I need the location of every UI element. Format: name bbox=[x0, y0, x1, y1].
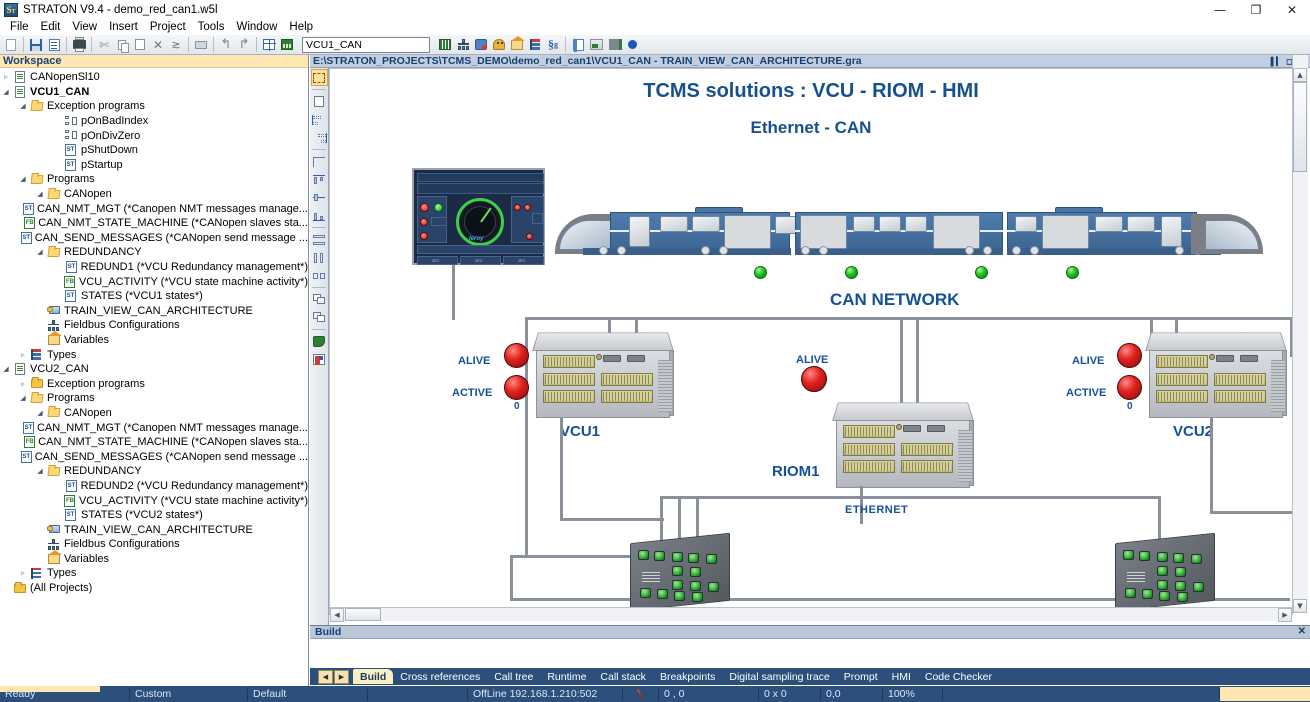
hmi-led-panto bbox=[420, 218, 428, 226]
folder-open-icon bbox=[46, 248, 61, 257]
tab-runtime[interactable]: Runtime bbox=[540, 669, 593, 684]
eth1-port-9 bbox=[690, 581, 701, 591]
tree-item-pshutdown[interactable]: STpShutDown bbox=[0, 143, 308, 158]
vcu2-serial-port-2 bbox=[1240, 355, 1258, 362]
eth1-port-6 bbox=[672, 566, 683, 576]
tree-item-label: CANopenSl10 bbox=[30, 71, 100, 83]
paste-icon[interactable] bbox=[131, 36, 149, 54]
eth-left-riser bbox=[510, 555, 513, 600]
train-graphic bbox=[555, 188, 1285, 268]
train-window-2c bbox=[905, 216, 927, 232]
train-wheel-2b bbox=[819, 246, 828, 255]
fieldbus-icon[interactable] bbox=[454, 36, 472, 54]
tree-item-all[interactable]: (All Projects) bbox=[0, 581, 308, 596]
eth2-port-11 bbox=[1125, 588, 1136, 598]
vcu2-alive-label: ALIVE bbox=[1072, 355, 1104, 367]
hmi-led-lights bbox=[420, 232, 428, 240]
variables-icon bbox=[46, 554, 61, 564]
eth2-port-2 bbox=[1139, 551, 1150, 561]
tree-item-can_nmt_mgt[interactable]: STCAN_NMT_MGT (*Canopen NMT messages man… bbox=[0, 201, 308, 216]
tree-item-label: CANopen bbox=[64, 188, 112, 200]
vcu2-front-panel bbox=[1149, 350, 1282, 418]
toolbar-separator bbox=[312, 329, 326, 330]
workspace-panel: Workspace ▹CANopenSl10◢VCU1_CAN◢Exceptio… bbox=[0, 55, 309, 688]
riom1-top-face bbox=[832, 402, 974, 421]
align-middle-icon[interactable] bbox=[311, 189, 328, 206]
tree-item-label: pStartup bbox=[81, 159, 123, 171]
diagram-canvas[interactable]: TCMS solutions : VCU - RIOM - HMI Ethern… bbox=[330, 68, 1292, 613]
vcu1-alive-led[interactable] bbox=[504, 343, 529, 368]
tree-item-redundancy[interactable]: ◢REDUNDANCY bbox=[0, 245, 308, 260]
workspace-tree[interactable]: ▹CANopenSl10◢VCU1_CAN◢Exception programs… bbox=[0, 68, 308, 595]
home-glyph bbox=[511, 40, 523, 50]
same-size-icon[interactable] bbox=[311, 267, 328, 284]
tree-item-vcu_activity[interactable]: FBVCU_ACTIVITY (*VCU state machine activ… bbox=[0, 274, 308, 289]
tree-twisty-collapsed-icon[interactable]: ▹ bbox=[17, 351, 29, 359]
tree-item-label: TRAIN_VIEW_CAN_ARCHITECTURE bbox=[64, 524, 253, 536]
dictionary-icon[interactable] bbox=[569, 36, 587, 54]
vcu1-alive-label: ALIVE bbox=[458, 355, 490, 367]
tree-item-redund2[interactable]: STREDUND2 (*VCU Redundancy management*) bbox=[0, 479, 308, 494]
close-button[interactable]: ✕ bbox=[1274, 0, 1310, 19]
train-window-3a bbox=[1015, 216, 1037, 232]
tree-item-redundancy[interactable]: ◢REDUNDANCY bbox=[0, 464, 308, 479]
tree-item-types[interactable]: ▹Types bbox=[0, 347, 308, 362]
menu-window[interactable]: Window bbox=[231, 20, 284, 34]
tab-call-tree[interactable]: Call tree bbox=[487, 669, 540, 684]
tree-item-label: CAN_SEND_MESSAGES (*CANopen send message… bbox=[35, 232, 308, 244]
tree-twisty-expanded-icon[interactable]: ◢ bbox=[17, 394, 29, 402]
hmi-brand-label: leroy bbox=[469, 236, 483, 242]
eth2-port-5 bbox=[1191, 554, 1202, 564]
status-progress bbox=[1220, 687, 1310, 701]
tree-item-label: CAN_NMT_MGT (*Canopen NMT messages manag… bbox=[37, 203, 308, 215]
tree-item-can_nmt_state_machine[interactable]: FBCAN_NMT_STATE_MACHINE (*CANopen slaves… bbox=[0, 435, 308, 450]
tree-item-label: Fieldbus Configurations bbox=[64, 538, 180, 550]
tree-item-programs[interactable]: ◢Programs bbox=[0, 391, 308, 406]
ethernet-switch-1[interactable] bbox=[630, 538, 730, 606]
status-connection: OffLine 192.168.1.210:502 bbox=[468, 687, 623, 701]
tree-item-canopen[interactable]: ◢CANopen bbox=[0, 187, 308, 202]
straton-app-icon: ST bbox=[4, 3, 18, 17]
new-document-icon[interactable] bbox=[2, 36, 20, 54]
tree-item-train_view_can_architecture[interactable]: TRAIN_VIEW_CAN_ARCHITECTURE bbox=[0, 304, 308, 319]
fb-program-icon: FB bbox=[64, 495, 76, 507]
fb-program-icon: FB bbox=[64, 276, 76, 288]
tree-item-label: VCU_ACTIVITY (*VCU state machine activit… bbox=[79, 495, 308, 507]
tree-item-redund1[interactable]: STREDUND1 (*VCU Redundancy management*) bbox=[0, 260, 308, 275]
scroll-down-arrow[interactable]: ▼ bbox=[1293, 599, 1307, 613]
tree-twisty-collapsed-icon[interactable]: ▹ bbox=[17, 569, 29, 577]
fieldbus-glyph bbox=[457, 39, 470, 50]
scroll-left-arrow[interactable]: ◀ bbox=[330, 608, 344, 622]
toolbar-separator bbox=[66, 37, 67, 52]
save-icon[interactable] bbox=[27, 36, 45, 54]
distribute-top-icon[interactable] bbox=[311, 153, 328, 170]
tree-item-vcu1_can[interactable]: ◢VCU1_CAN bbox=[0, 85, 308, 100]
hmi-led-economy bbox=[514, 204, 521, 211]
align-bottom-icon[interactable] bbox=[311, 207, 328, 224]
same-height-icon[interactable] bbox=[311, 249, 328, 266]
tree-item-label: REDUND2 (*VCU Redundancy management*) bbox=[81, 480, 308, 492]
vcu2-active-label: ACTIVE bbox=[1066, 387, 1106, 399]
align-right-icon[interactable] bbox=[311, 129, 328, 146]
st-program-icon: ST bbox=[21, 232, 32, 244]
eth1-port-10 bbox=[708, 582, 719, 592]
vcu1-active-led[interactable] bbox=[504, 375, 529, 400]
eth1-port-7 bbox=[690, 567, 701, 577]
tab-hmi[interactable]: HMI bbox=[885, 669, 918, 684]
maximize-button[interactable]: ❐ bbox=[1238, 0, 1274, 19]
align-left-icon[interactable] bbox=[311, 111, 328, 128]
pen-icon bbox=[623, 687, 659, 701]
scroll-up-arrow[interactable]: ▲ bbox=[1293, 68, 1307, 82]
delete-all-icon[interactable]: ≳ bbox=[167, 36, 185, 54]
toolbar-separator bbox=[91, 37, 92, 52]
types-glyph bbox=[530, 39, 541, 50]
save-all-icon[interactable] bbox=[45, 36, 63, 54]
train-wheel-3c bbox=[1175, 246, 1184, 255]
project-name-input[interactable] bbox=[302, 37, 430, 53]
fieldbus-config-icon bbox=[46, 320, 61, 331]
tree-twisty-expanded-icon[interactable]: ◢ bbox=[17, 175, 29, 183]
delete-icon[interactable]: ✕ bbox=[149, 36, 167, 54]
eth1-port-4 bbox=[688, 553, 699, 563]
status-spacer bbox=[368, 687, 468, 701]
tree-twisty-expanded-icon[interactable]: ◢ bbox=[34, 467, 46, 475]
status-zoom: 100% bbox=[883, 687, 943, 701]
vcu2-slot-5 bbox=[1214, 390, 1266, 403]
train-wheel-3b bbox=[1030, 246, 1039, 255]
eth-vcu2-elbow bbox=[1210, 511, 1292, 514]
bring-front-icon[interactable] bbox=[311, 93, 328, 110]
download-icon[interactable] bbox=[605, 36, 623, 54]
build-panel: Build ✕ bbox=[310, 625, 1310, 668]
st-program-icon: ST bbox=[65, 480, 77, 492]
train-roofbox-1 bbox=[695, 207, 743, 213]
tab-breakpoints[interactable]: Breakpoints bbox=[653, 669, 722, 684]
tree-item-label: pShutDown bbox=[81, 144, 138, 156]
hmi-led-defrost bbox=[524, 204, 531, 211]
tree-item-vcu_activity[interactable]: FBVCU_ACTIVITY (*VCU state machine activ… bbox=[0, 493, 308, 508]
riom1-device[interactable] bbox=[832, 398, 974, 488]
home-icon[interactable] bbox=[508, 36, 526, 54]
status-bar: Ready Custom Default OffLine 192.168.1.2… bbox=[0, 686, 1310, 702]
tree-twisty-collapsed-icon[interactable]: ▹ bbox=[17, 380, 29, 388]
scroll-h-thumb[interactable] bbox=[345, 608, 381, 621]
can-node-led-3[interactable] bbox=[975, 266, 988, 279]
hmi-led-sanding bbox=[526, 233, 533, 240]
document-restore-button[interactable]: ▌▎ bbox=[1271, 56, 1282, 66]
train-door-1 bbox=[629, 216, 650, 247]
tree-item-fieldbus[interactable]: Fieldbus Configurations bbox=[0, 318, 308, 333]
status-tail bbox=[943, 687, 1220, 701]
vcu2-active-value: 0 bbox=[1127, 401, 1133, 412]
rename-icon[interactable] bbox=[192, 36, 210, 54]
status-offset: 0,0 bbox=[821, 687, 883, 701]
copy-icon[interactable] bbox=[113, 36, 131, 54]
eth-switch2-drop bbox=[1158, 496, 1161, 544]
eth-trunk-main bbox=[660, 496, 1160, 499]
riom1-power-connector bbox=[896, 424, 902, 430]
eth1-port-8 bbox=[672, 580, 683, 590]
train-skirt-1 bbox=[583, 248, 791, 255]
vcu2-active-led[interactable] bbox=[1117, 375, 1142, 400]
vcu1-vent-grille bbox=[658, 360, 672, 412]
undo-icon[interactable]: ↰ bbox=[217, 36, 235, 54]
tree-item-canopensl10[interactable]: ▹CANopenSl10 bbox=[0, 70, 308, 85]
vcu2-serial-port-1 bbox=[1216, 355, 1234, 362]
train-window-3b bbox=[1095, 216, 1123, 232]
tree-item-exception[interactable]: ▹Exception programs bbox=[0, 376, 308, 391]
tab-code-checker[interactable]: Code Checker bbox=[918, 669, 999, 684]
tree-item-can_send_messages[interactable]: STCAN_SEND_MESSAGES (*CANopen send messa… bbox=[0, 449, 308, 464]
tree-item-variables[interactable]: Variables bbox=[0, 333, 308, 348]
riom1-front-panel bbox=[836, 420, 969, 488]
document-titlebar: E:\STRATON_PROJECTS\TCMS_DEMO\demo_red_c… bbox=[310, 55, 1310, 68]
folder-open-icon bbox=[46, 408, 61, 417]
vcu1-power-connector bbox=[596, 354, 602, 360]
eth1-port-11 bbox=[640, 588, 651, 598]
folder-open-icon bbox=[29, 175, 44, 184]
vcu2-vent-grille bbox=[1271, 360, 1285, 412]
types-icon[interactable] bbox=[526, 36, 544, 54]
tree-item-label: STATES (*VCU1 states*) bbox=[81, 290, 203, 302]
spreadsheet-icon[interactable] bbox=[278, 36, 296, 54]
print-icon[interactable] bbox=[70, 36, 88, 54]
tree-item-label: pOnDivZero bbox=[81, 130, 140, 142]
sg-function-icon[interactable]: §g bbox=[544, 36, 562, 54]
folder-closed-icon bbox=[29, 379, 44, 388]
redo-icon[interactable]: ↱ bbox=[235, 36, 253, 54]
st-program-icon: ST bbox=[63, 509, 78, 521]
eth2-port-13 bbox=[1159, 591, 1170, 601]
riom1-slot-1 bbox=[843, 425, 895, 438]
tree-item-pondivzero[interactable]: pOnDivZero bbox=[0, 128, 308, 143]
train-wheel-2d bbox=[983, 246, 992, 255]
status-size: 0 x 0 bbox=[759, 687, 821, 701]
eth1-port-14 bbox=[692, 592, 703, 602]
menu-edit[interactable]: Edit bbox=[35, 20, 67, 34]
train-window-1a bbox=[660, 216, 688, 232]
toolbar-separator bbox=[188, 37, 189, 52]
tree-item-label: Exception programs bbox=[47, 100, 145, 112]
vcu2-device[interactable] bbox=[1145, 328, 1287, 418]
group-icon[interactable] bbox=[311, 291, 328, 308]
vcu1-label: VCU1 bbox=[560, 423, 600, 440]
tree-twisty-expanded-icon[interactable]: ◢ bbox=[0, 365, 12, 373]
st-program-icon: ST bbox=[63, 290, 78, 302]
diagram-title-line1: TCMS solutions : VCU - RIOM - HMI bbox=[330, 80, 1292, 103]
tree-twisty-expanded-icon[interactable]: ◢ bbox=[34, 409, 46, 417]
can-node-led-4[interactable] bbox=[1066, 266, 1079, 279]
train-wheel-3a bbox=[1012, 246, 1021, 255]
can-node-led-1[interactable] bbox=[754, 266, 767, 279]
folder-open-icon bbox=[46, 467, 61, 476]
tree-item-vcu2_can[interactable]: ◢VCU2_CAN bbox=[0, 362, 308, 377]
grid-icon[interactable] bbox=[260, 36, 278, 54]
riom1-slot-5 bbox=[901, 460, 953, 473]
binding-icon[interactable] bbox=[472, 36, 490, 54]
tree-item-can_nmt_mgt[interactable]: STCAN_NMT_MGT (*Canopen NMT messages man… bbox=[0, 420, 308, 435]
hmi-footer-value-1: 25°C bbox=[432, 259, 439, 263]
eth1-status-leds bbox=[642, 572, 660, 582]
can-drop-hmi bbox=[452, 265, 455, 320]
vcu1-active-label: ACTIVE bbox=[452, 387, 492, 399]
diagram-title-line2: Ethernet - CAN bbox=[330, 118, 1292, 138]
menu-insert[interactable]: Insert bbox=[103, 20, 144, 34]
cut-icon[interactable]: ✄ bbox=[95, 36, 113, 54]
vcu2-alive-led[interactable] bbox=[1117, 343, 1142, 368]
select-tool-icon[interactable] bbox=[311, 69, 328, 86]
eth2-port-14 bbox=[1177, 592, 1188, 602]
properties-icon[interactable] bbox=[311, 351, 328, 368]
tab-build[interactable]: Build bbox=[353, 669, 393, 684]
tree-item-pstartup[interactable]: STpStartup bbox=[0, 158, 308, 173]
tree-item-label: VCU2_CAN bbox=[30, 363, 89, 375]
scroll-v-thumb[interactable] bbox=[1293, 82, 1307, 172]
eth1-port-13 bbox=[674, 591, 685, 601]
vcu1-top-face bbox=[532, 332, 674, 351]
st-program-icon: ST bbox=[21, 451, 32, 463]
online-status-icon[interactable] bbox=[623, 36, 641, 54]
riom1-vent-grille bbox=[958, 430, 972, 482]
build-panel-close-button[interactable]: ✕ bbox=[1298, 626, 1306, 637]
hmi-led-doors bbox=[434, 203, 443, 212]
tree-item-states[interactable]: STSTATES (*VCU2 states*) bbox=[0, 508, 308, 523]
canvas-vertical-scrollbar[interactable]: ▲ ▼ bbox=[1292, 55, 1308, 613]
debug-icon[interactable] bbox=[490, 36, 508, 54]
menu-file[interactable]: File bbox=[4, 20, 35, 34]
riom1-slot-3 bbox=[843, 460, 895, 473]
riom1-serial-port-2 bbox=[927, 425, 945, 432]
tree-item-label: Fieldbus Configurations bbox=[64, 319, 180, 331]
ethernet-switch-2[interactable] bbox=[1115, 538, 1215, 606]
canvas-horizontal-scrollbar[interactable]: ◀ ▶ bbox=[330, 607, 1292, 621]
riom1-slot-4 bbox=[901, 443, 953, 456]
tree-item-label: CAN_NMT_STATE_MACHINE (*CANopen slaves s… bbox=[38, 436, 308, 448]
st-program-icon: ST bbox=[63, 144, 78, 156]
compile-icon[interactable] bbox=[587, 36, 605, 54]
train-window-2b bbox=[879, 216, 901, 232]
train-wheel-1a bbox=[599, 246, 608, 255]
train-panel-3 bbox=[933, 215, 980, 249]
tree-item-label: REDUNDANCY bbox=[64, 465, 142, 477]
tree-item-exception[interactable]: ◢Exception programs bbox=[0, 99, 308, 114]
tree-twisty-expanded-icon[interactable]: ◢ bbox=[34, 248, 46, 256]
tree-item-programs[interactable]: ◢Programs bbox=[0, 172, 308, 187]
toolbar-separator bbox=[256, 37, 257, 52]
eth-vcu1-drop bbox=[560, 418, 563, 520]
tab-next-button[interactable]: ▶ bbox=[334, 670, 349, 684]
toolbar-separator bbox=[312, 227, 326, 228]
eth1-port-3 bbox=[672, 552, 683, 562]
train-door-2 bbox=[1161, 216, 1182, 247]
vcu1-device[interactable] bbox=[532, 328, 674, 418]
vcu1-slot-1 bbox=[543, 355, 595, 368]
tree-item-label: Types bbox=[47, 567, 76, 579]
fill-color-icon[interactable] bbox=[311, 333, 328, 350]
tree-item-label: Exception programs bbox=[47, 378, 145, 390]
vcu2-slot-2 bbox=[1156, 373, 1208, 386]
tab-digital-sampling[interactable]: Digital sampling trace bbox=[722, 669, 836, 684]
hmi-display-panel[interactable]: leroy 25°C 25°C 25°C bbox=[412, 168, 545, 265]
train-window-2a bbox=[853, 216, 875, 232]
toolbar-separator bbox=[312, 287, 326, 288]
tree-item-states[interactable]: STSTATES (*VCU1 states*) bbox=[0, 289, 308, 304]
tree-item-train_view_can_architecture[interactable]: TRAIN_VIEW_CAN_ARCHITECTURE bbox=[0, 522, 308, 537]
riom1-label: RIOM1 bbox=[772, 463, 820, 480]
eth2-port-8 bbox=[1157, 580, 1168, 590]
vcu1-slot-3 bbox=[543, 390, 595, 403]
st-program-icon: ST bbox=[23, 422, 34, 434]
project-icon bbox=[12, 86, 27, 98]
folder-closed-icon bbox=[12, 584, 27, 593]
eth2-port-1 bbox=[1123, 550, 1134, 560]
hmi-view-icon bbox=[46, 305, 61, 316]
train-skirt-3 bbox=[1007, 248, 1221, 255]
eth2-status-leds bbox=[1127, 572, 1145, 582]
fb-program-icon: FB bbox=[24, 436, 35, 448]
project-icon bbox=[12, 71, 27, 83]
scroll-right-arrow[interactable]: ▶ bbox=[1278, 608, 1292, 622]
ungroup-icon[interactable] bbox=[311, 309, 328, 326]
vcu1-slot-4 bbox=[601, 373, 653, 386]
menu-project[interactable]: Project bbox=[144, 20, 192, 34]
train-panel-4 bbox=[1042, 215, 1089, 249]
tree-item-label: TRAIN_VIEW_CAN_ARCHITECTURE bbox=[64, 305, 253, 317]
tab-prompt[interactable]: Prompt bbox=[837, 669, 885, 684]
can-node-led-2[interactable] bbox=[845, 266, 858, 279]
tree-item-label: pOnBadIndex bbox=[81, 115, 148, 127]
align-top-icon[interactable] bbox=[311, 171, 328, 188]
train-panel-1 bbox=[724, 215, 771, 249]
menu-tools[interactable]: Tools bbox=[192, 20, 231, 34]
variables-grid-icon[interactable] bbox=[436, 36, 454, 54]
st-program-icon: ST bbox=[63, 159, 78, 171]
tree-item-can_send_messages[interactable]: STCAN_SEND_MESSAGES (*CANopen send messa… bbox=[0, 231, 308, 246]
minimize-button[interactable]: — bbox=[1202, 0, 1238, 19]
tab-prev-button[interactable]: ◀ bbox=[318, 670, 333, 684]
tab-cross-references[interactable]: Cross references bbox=[393, 669, 487, 684]
eth1-port-12 bbox=[657, 589, 668, 599]
riom1-slot-2 bbox=[843, 443, 895, 456]
hmi-footer-value-2: 25°C bbox=[475, 259, 482, 263]
eth2-port-9 bbox=[1175, 581, 1186, 591]
tree-twisty-collapsed-icon[interactable]: ▹ bbox=[0, 73, 12, 81]
tree-item-ponbadindex[interactable]: pOnBadIndex bbox=[0, 114, 308, 129]
tree-twisty-expanded-icon[interactable]: ◢ bbox=[0, 88, 12, 96]
menu-view[interactable]: View bbox=[66, 20, 103, 34]
hmi-status-text-strip bbox=[417, 245, 544, 254]
tree-item-canopen[interactable]: ◢CANopen bbox=[0, 406, 308, 421]
tree-item-fieldbus[interactable]: Fieldbus Configurations bbox=[0, 537, 308, 552]
types-icon bbox=[29, 568, 44, 579]
tab-call-stack[interactable]: Call stack bbox=[593, 669, 653, 684]
editor-tools-toolbar bbox=[310, 55, 329, 625]
eth-left-branch bbox=[510, 555, 640, 558]
folder-open-icon bbox=[29, 394, 44, 403]
same-width-icon[interactable] bbox=[311, 231, 328, 248]
menu-help[interactable]: Help bbox=[283, 20, 319, 34]
tree-item-types[interactable]: ▹Types bbox=[0, 566, 308, 581]
tree-twisty-expanded-icon[interactable]: ◢ bbox=[34, 190, 46, 198]
tree-twisty-expanded-icon[interactable]: ◢ bbox=[17, 102, 29, 110]
vcu2-power-connector bbox=[1209, 354, 1215, 360]
tree-item-variables[interactable]: Variables bbox=[0, 552, 308, 567]
riom1-alive-led[interactable] bbox=[801, 366, 827, 392]
tree-item-can_nmt_state_machine[interactable]: FBCAN_NMT_STATE_MACHINE (*CANopen slaves… bbox=[0, 216, 308, 231]
